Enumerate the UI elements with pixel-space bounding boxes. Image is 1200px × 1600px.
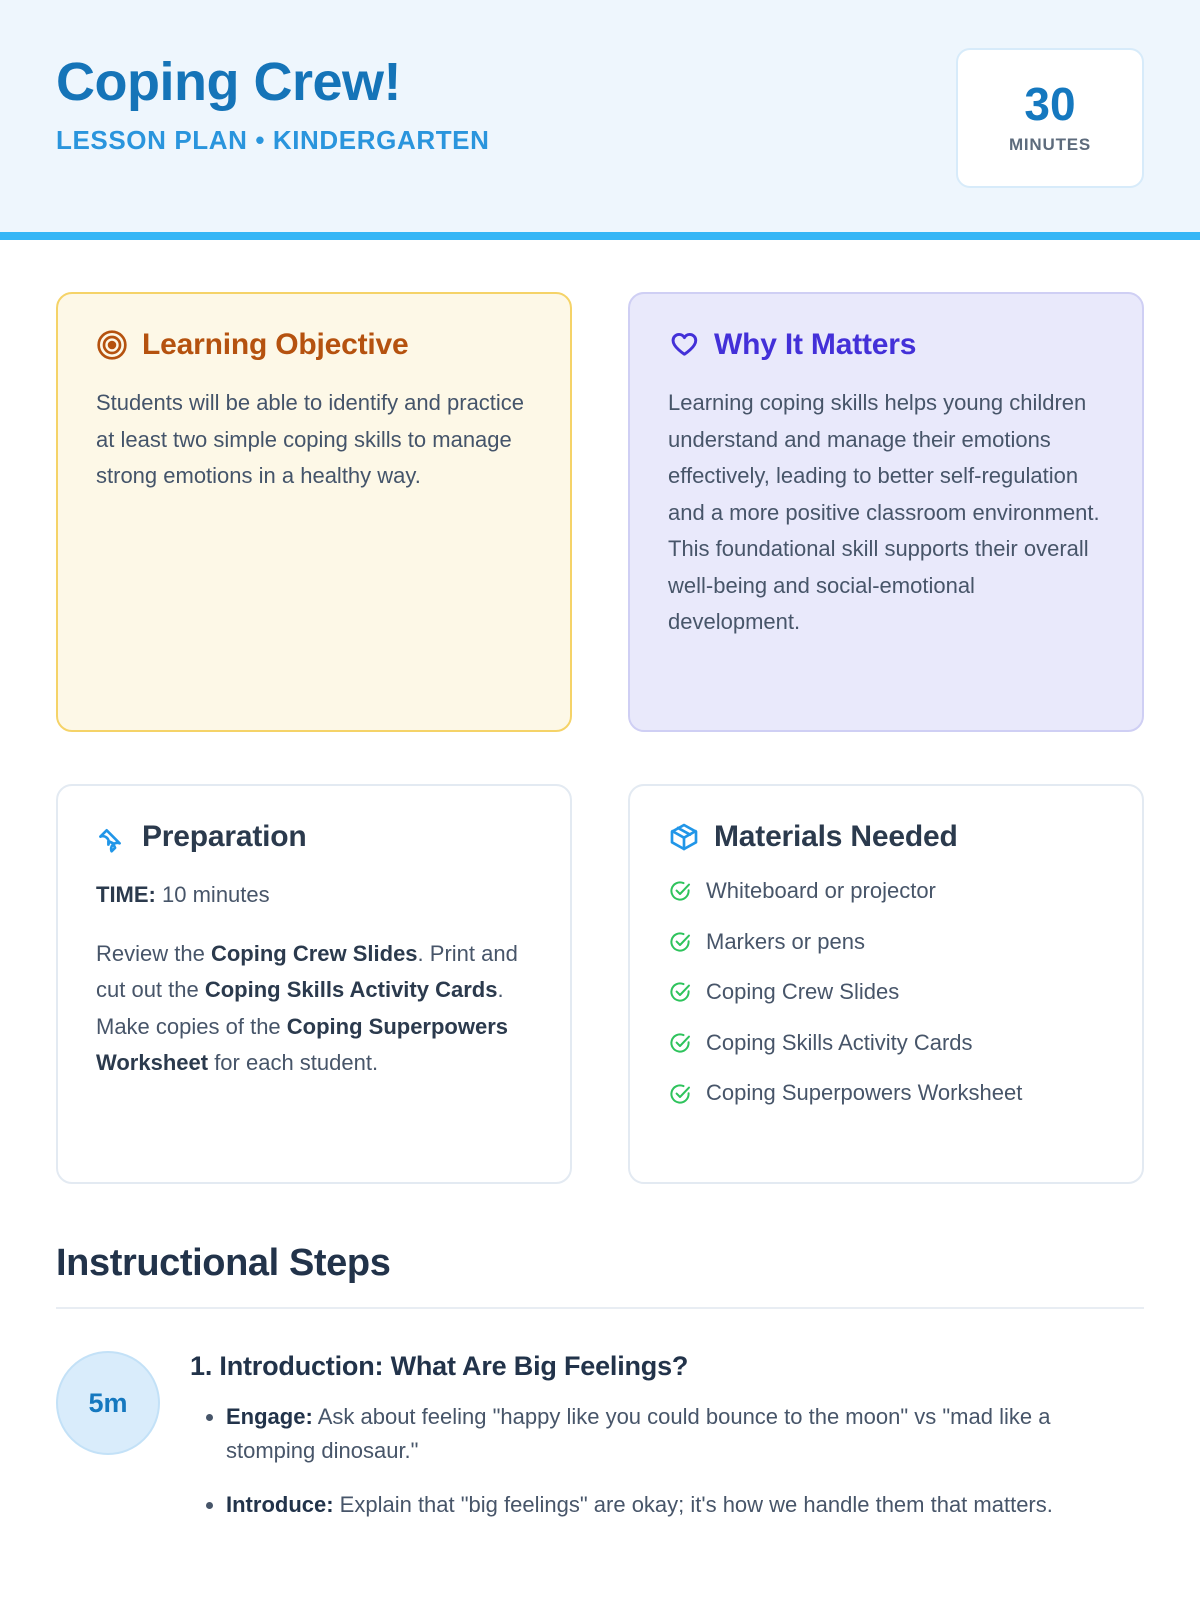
preparation-title: Preparation — [142, 820, 307, 853]
preparation-header: Preparation — [96, 820, 532, 853]
materials-list: Whiteboard or projectorMarkers or pensCo… — [668, 877, 1104, 1108]
target-icon — [96, 329, 128, 361]
preparation-time-row: TIME: 10 minutes — [96, 877, 532, 914]
step-bullet: Engage: Ask about feeling "happy like yo… — [226, 1400, 1144, 1468]
materials-title: Materials Needed — [714, 820, 958, 853]
instructional-steps-heading: Instructional Steps — [56, 1242, 1144, 1285]
step-bullet: Introduce: Explain that "big feelings" a… — [226, 1488, 1144, 1522]
check-circle-icon — [668, 1031, 692, 1055]
header-title-block: Coping Crew! LESSON PLAN • KINDERGARTEN — [56, 48, 490, 156]
preparation-time-value: 10 minutes — [162, 882, 270, 907]
duration-value: 30 — [1024, 81, 1075, 127]
why-it-matters-header: Why It Matters — [668, 328, 1104, 361]
header-accent-bar — [0, 232, 1200, 240]
step-content: 1. Introduction: What Are Big Feelings?E… — [190, 1347, 1144, 1542]
material-item-label: Coping Crew Slides — [706, 978, 899, 1007]
lesson-subtitle: LESSON PLAN • KINDERGARTEN — [56, 125, 490, 156]
instructional-step: 5m1. Introduction: What Are Big Feelings… — [56, 1347, 1144, 1542]
materials-card: Materials Needed Whiteboard or projector… — [628, 784, 1144, 1184]
material-item: Markers or pens — [668, 928, 1104, 957]
body-text-run: for each student. — [208, 1050, 378, 1075]
steps-divider — [56, 1307, 1144, 1309]
emphasised-term: Coping Skills Activity Cards — [205, 977, 498, 1002]
material-item-label: Whiteboard or projector — [706, 877, 936, 906]
preparation-instructions: Review the Coping Crew Slides. Print and… — [96, 936, 532, 1082]
learning-objective-body: Students will be able to identify and pr… — [96, 385, 532, 495]
check-circle-icon — [668, 1082, 692, 1106]
learning-objective-header: Learning Objective — [96, 328, 532, 361]
step-bullet-list: Engage: Ask about feeling "happy like yo… — [190, 1400, 1144, 1522]
steps-container: 5m1. Introduction: What Are Big Feelings… — [56, 1347, 1144, 1542]
materials-header: Materials Needed — [668, 820, 1104, 853]
material-item-label: Markers or pens — [706, 928, 865, 957]
step-bullet-lead: Introduce: — [226, 1492, 334, 1517]
heart-icon — [668, 329, 700, 361]
material-item: Coping Skills Activity Cards — [668, 1029, 1104, 1058]
why-it-matters-text: Learning coping skills helps young child… — [668, 385, 1104, 641]
preparation-card: Preparation TIME: 10 minutes Review the … — [56, 784, 572, 1184]
preparation-time-label: TIME: — [96, 882, 156, 907]
step-time-badge: 5m — [56, 1351, 160, 1455]
emphasised-term: Coping Crew Slides — [211, 941, 418, 966]
overview-card-grid: Learning Objective Students will be able… — [56, 292, 1144, 732]
duration-badge: 30 MINUTES — [956, 48, 1144, 188]
step-bullet-text: Explain that "big feelings" are okay; it… — [334, 1492, 1053, 1517]
step-title: 1. Introduction: What Are Big Feelings? — [190, 1351, 1144, 1382]
learning-objective-title: Learning Objective — [142, 328, 408, 361]
step-bullet-text: Ask about feeling "happy like you could … — [226, 1404, 1050, 1463]
check-circle-icon — [668, 980, 692, 1004]
lesson-header: Coping Crew! LESSON PLAN • KINDERGARTEN … — [0, 0, 1200, 232]
material-item: Coping Crew Slides — [668, 978, 1104, 1007]
check-circle-icon — [668, 930, 692, 954]
preparation-body: TIME: 10 minutes Review the Coping Crew … — [96, 877, 532, 1082]
learning-objective-text: Students will be able to identify and pr… — [96, 385, 532, 495]
duration-unit-label: MINUTES — [1009, 135, 1091, 155]
why-it-matters-body: Learning coping skills helps young child… — [668, 385, 1104, 641]
why-it-matters-card: Why It Matters Learning coping skills he… — [628, 292, 1144, 732]
material-item-label: Coping Skills Activity Cards — [706, 1029, 973, 1058]
step-bullet-lead: Engage: — [226, 1404, 313, 1429]
logistics-card-grid: Preparation TIME: 10 minutes Review the … — [56, 784, 1144, 1184]
box-icon — [668, 821, 700, 853]
page-title: Coping Crew! — [56, 54, 490, 111]
wrench-icon — [96, 821, 128, 853]
why-it-matters-title: Why It Matters — [714, 328, 916, 361]
material-item-label: Coping Superpowers Worksheet — [706, 1079, 1022, 1108]
learning-objective-card: Learning Objective Students will be able… — [56, 292, 572, 732]
material-item: Whiteboard or projector — [668, 877, 1104, 906]
body-text-run: Review the — [96, 941, 211, 966]
material-item: Coping Superpowers Worksheet — [668, 1079, 1104, 1108]
main-content: Learning Objective Students will be able… — [0, 292, 1200, 1542]
check-circle-icon — [668, 879, 692, 903]
instructional-steps-section: Instructional Steps 5m1. Introduction: W… — [56, 1242, 1144, 1542]
